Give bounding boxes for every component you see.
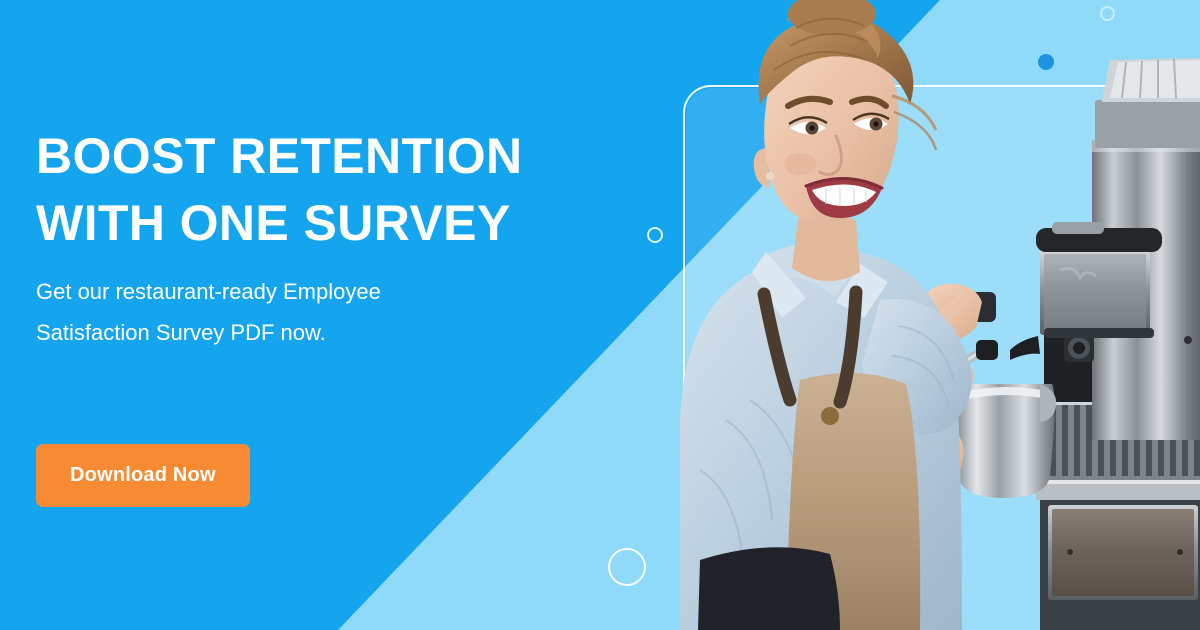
subtitle-line-2: Satisfaction Survey PDF now. <box>36 313 506 354</box>
copy-column: BOOST RETENTION WITH ONE SURVEY Get our … <box>36 0 596 630</box>
headline-line-2: WITH ONE SURVEY <box>36 190 576 257</box>
promo-banner: BOOST RETENTION WITH ONE SURVEY Get our … <box>0 0 1200 630</box>
headline-line-1: BOOST RETENTION <box>36 123 576 190</box>
subtitle-line-1: Get our restaurant-ready Employee <box>36 272 506 313</box>
download-now-button[interactable]: Download Now <box>36 444 250 507</box>
page-title: BOOST RETENTION WITH ONE SURVEY <box>36 123 576 257</box>
subtitle: Get our restaurant-ready Employee Satisf… <box>36 272 506 353</box>
barista-photo <box>640 0 1200 630</box>
